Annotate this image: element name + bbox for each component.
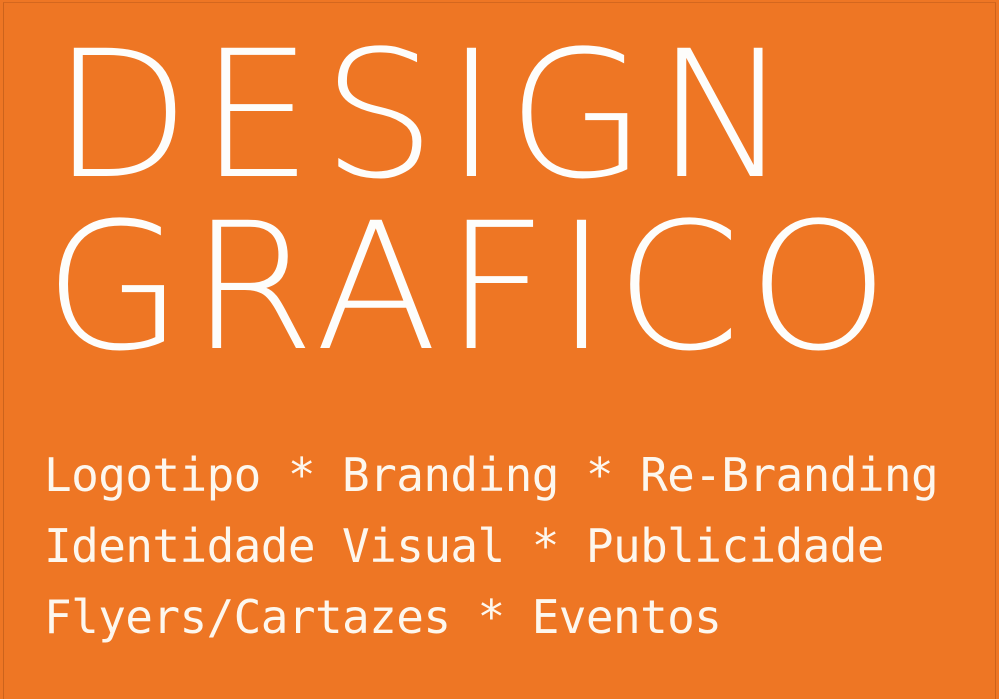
poster-canvas: DESIGN GRAFICO Logotipo * Branding * Re-… — [0, 0, 999, 699]
service-line-logotipo-branding: Logotipo * Branding * Re-Branding — [44, 449, 938, 502]
headline-line-design: DESIGN — [52, 28, 999, 204]
headline-line-grafico: GRAFICO — [44, 200, 999, 376]
service-line-identidade-publicidade: Identidade Visual * Publicidade — [44, 520, 938, 573]
service-list: Logotipo * Branding * Re-Branding Identi… — [44, 449, 938, 644]
service-line-flyers-eventos: Flyers/Cartazes * Eventos — [44, 591, 938, 644]
